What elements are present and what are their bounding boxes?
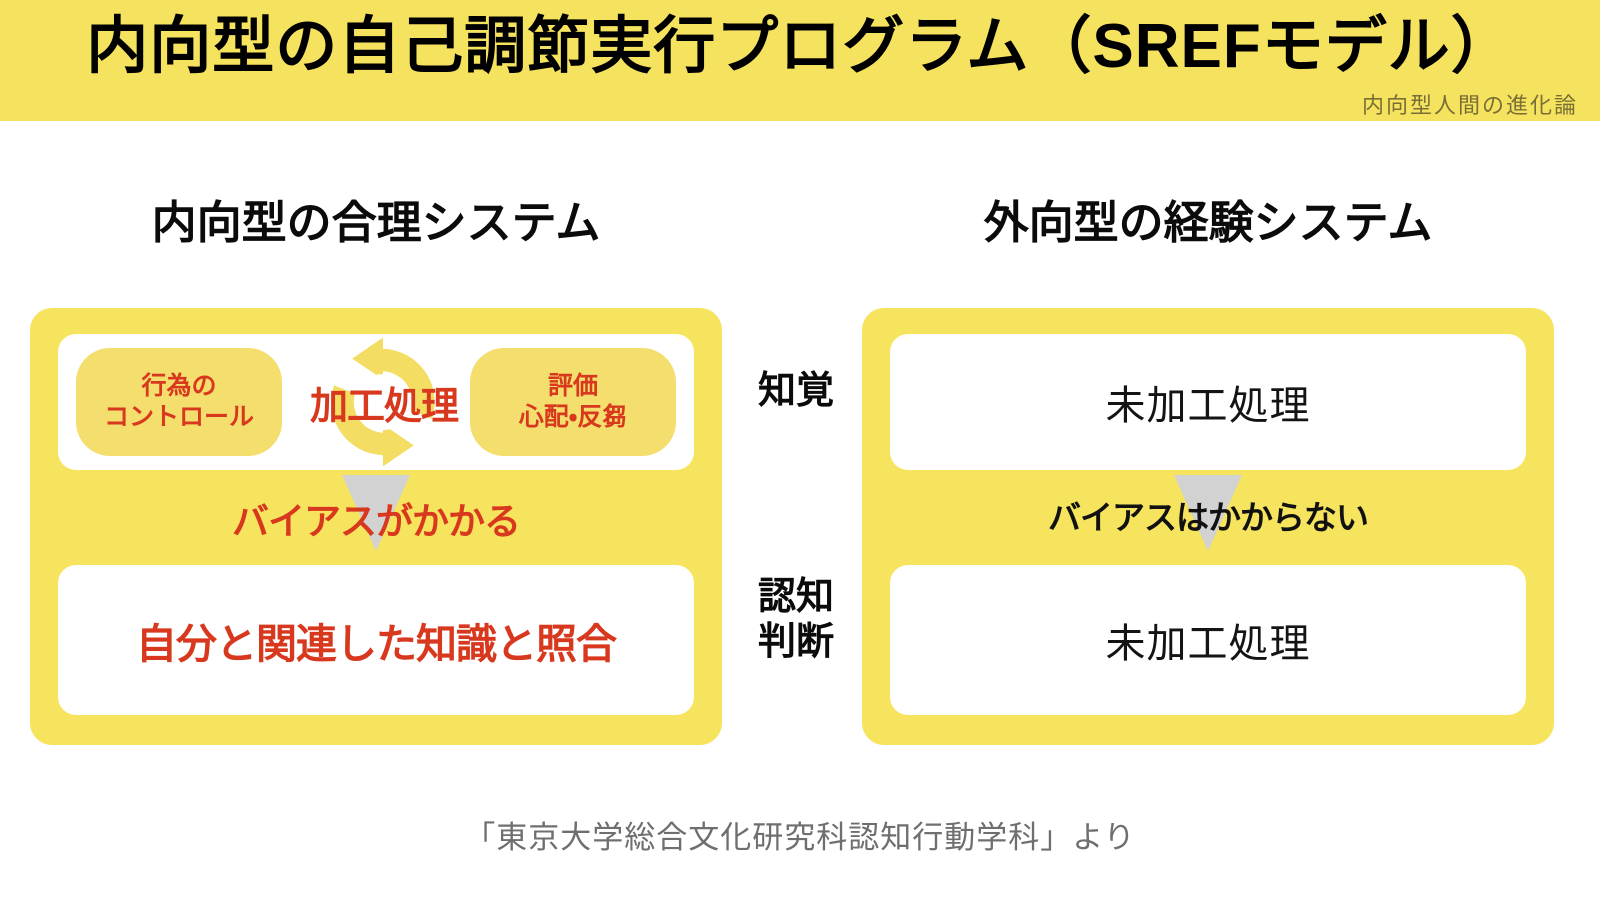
evaluation-worry-pill: 評価 心配・反芻	[470, 348, 676, 456]
brand-watermark: 内向型人間の進化論	[1362, 88, 1578, 120]
header-band: 内向型の自己調節実行プログラム（SREFモデル） 内向型人間の進化論	[0, 0, 1600, 121]
left-perception-box: 行為の コントロール 加工処理 評価 心配・反芻	[58, 334, 694, 470]
stage-label-cognition: 認知 判断	[730, 575, 862, 665]
right-bias-row: バイアスはかからない	[890, 471, 1526, 564]
slide-canvas: 内向型の自己調節実行プログラム（SREFモデル） 内向型人間の進化論 内向型の合…	[0, 0, 1600, 900]
source-citation: 「東京大学総合文化研究科認知行動学科」より	[0, 812, 1600, 857]
stage-perception-text: 知覚	[730, 369, 862, 414]
processing-label: 加工処理	[286, 334, 482, 470]
right-perception-text: 未加工処理	[1106, 373, 1311, 431]
left-cognition-box: 自分と関連した知識と照合	[58, 565, 694, 715]
behavior-control-line2: コントロール	[104, 402, 254, 433]
stage-label-perception: 知覚	[730, 369, 862, 414]
processing-row: 行為の コントロール 加工処理 評価 心配・反芻	[58, 334, 694, 470]
page-title: 内向型の自己調節実行プログラム（SREFモデル）	[0, 14, 1600, 79]
left-cognition-text: 自分と関連した知識と照合	[136, 610, 616, 670]
right-cognition-text: 未加工処理	[1106, 611, 1311, 669]
left-bias-label: バイアスがかかる	[58, 491, 694, 545]
right-cognition-box: 未加工処理	[890, 565, 1526, 715]
extrovert-experiential-system-panel: 未加工処理 バイアスはかからない 未加工処理	[862, 308, 1554, 745]
behavior-control-pill: 行為の コントロール	[76, 348, 282, 456]
stage-cognition-line2: 判断	[730, 620, 862, 665]
behavior-control-line1: 行為の	[141, 371, 216, 402]
right-bias-label: バイアスはかからない	[890, 491, 1526, 539]
evaluation-line1: 評価	[548, 371, 598, 402]
left-column-heading: 内向型の合理システム	[30, 186, 722, 251]
introvert-rational-system-panel: 行為の コントロール 加工処理 評価 心配・反芻 バイ	[30, 308, 722, 745]
left-bias-row: バイアスがかかる	[58, 471, 694, 564]
right-column-heading: 外向型の経験システム	[862, 186, 1554, 251]
right-perception-box: 未加工処理	[890, 334, 1526, 470]
evaluation-line2: 心配・反芻	[519, 402, 628, 433]
stage-cognition-line1: 認知	[730, 575, 862, 620]
